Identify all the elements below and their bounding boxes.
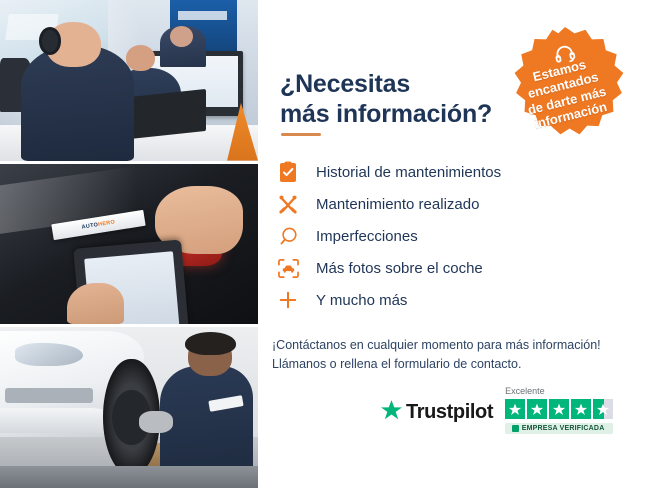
feature-item-maintenance-history: Historial de mantenimientos [272,156,642,188]
checklist-document-icon [272,156,304,188]
contact-line-2: Llámanos o rellena el formulario de cont… [272,357,521,371]
trustpilot-wordmark: Trustpilot [406,401,493,424]
mechanic-glove [139,411,173,433]
magnifier-icon [272,220,304,252]
support-badge: Estamos encantados de darte más informac… [502,27,628,153]
photo-column: AUTOHERO [0,0,258,488]
second-agent-head [126,45,154,71]
verified-label: EMPRESA VERIFICADA [522,425,605,432]
star-3 [549,399,569,419]
star-rating [505,399,613,419]
feature-item-more-photos: Más fotos sobre el coche [272,252,642,284]
star-1 [505,399,525,419]
page-title-line-2: más información? [280,100,492,128]
plus-icon [272,284,304,316]
car-inspection-ruler-photo: AUTOHERO [0,164,258,325]
crossed-tools-icon [272,188,304,220]
page-title-line-1: ¿Necesitas [280,70,410,98]
call-center-agents-photo [0,0,258,161]
vehicle-lift-platform [0,466,258,488]
background-agent-head [170,26,193,47]
ruler-brand-text: AUTOHERO [81,219,115,230]
inspector-hand-lower [67,283,124,325]
trustpilot-star-icon [380,399,403,426]
contact-paragraph: ¡Contáctanos en cualquier momento para m… [272,336,644,375]
feature-label: Historial de mantenimientos [316,164,501,181]
feature-list: Historial de mantenimientos Mantenimient… [272,156,642,316]
trustpilot-rating-block: Trustpilot Excelente [380,386,613,434]
trustpilot-score: Excelente [505,386,613,434]
car-grille [5,388,93,402]
mechanic-wheel-inspection-photo [0,327,258,488]
foreground-agent-head-with-headset [46,22,100,67]
rating-label: Excelente [505,386,545,396]
star-4 [571,399,591,419]
verified-check-icon [512,425,519,432]
car-headlight [15,343,82,365]
feature-item-much-more: Y mucho más [272,284,642,316]
content-panel: ¿Necesitasmás información? Estamos encan… [258,0,650,488]
title-underline-rule [281,133,321,136]
star-2 [527,399,547,419]
laptop [129,89,206,139]
car-bumper [0,408,108,434]
feature-item-maintenance-done: Mantenimiento realizado [272,188,642,220]
feature-label: Y mucho más [316,292,407,309]
car-focus-frame-icon [272,252,304,284]
verified-business-badge: EMPRESA VERIFICADA [505,423,613,434]
mechanic-head [188,337,232,376]
contact-line-1: ¡Contáctanos en cualquier momento para m… [272,338,601,352]
feature-label: Mantenimiento realizado [316,196,479,213]
trustpilot-logo: Trustpilot [380,399,493,426]
feature-label: Imperfecciones [316,228,418,245]
feature-item-imperfections: Imperfecciones [272,220,642,252]
page-title: ¿Necesitasmás información? [280,69,520,130]
information-promo-poster: AUTOHERO ¿Necesitasmás información? [0,0,650,488]
star-5-half [593,399,613,419]
feature-label: Más fotos sobre el coche [316,260,483,277]
